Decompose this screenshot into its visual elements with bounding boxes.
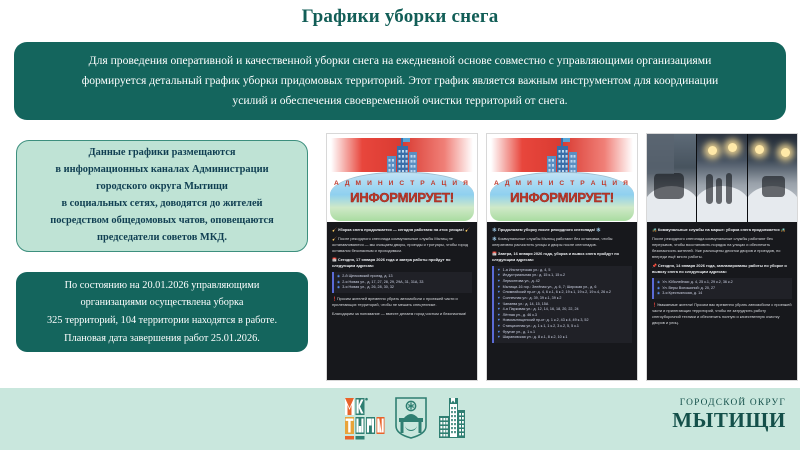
bullet-icon: ◉	[337, 285, 340, 291]
post-headline-1: 🧹 Уборка снега продолжается — сегодня ра…	[332, 227, 472, 233]
footer-wordmark: ГОРОДСКОЙ ОКРУГ МЫТИЩИ	[672, 398, 786, 431]
street-light-glow	[781, 148, 790, 157]
street-light-glow	[728, 143, 737, 152]
post-body-3: 🚜 Коммунальные службы на марше: уборка с…	[647, 222, 797, 333]
social-post-screenshot-3[interactable]: 🚜 Коммунальные службы на марше: уборка с…	[646, 133, 798, 381]
snow-pile	[697, 186, 746, 222]
mint-line-5: посредством общедомовых чатов, оповещают…	[50, 213, 274, 230]
footer-logos	[345, 396, 465, 440]
banner-main-text: ИНФОРМИРУЕТ!	[487, 190, 637, 205]
worker-silhouette	[706, 174, 712, 204]
post-schedule-head-1: 📅 Сегодня, 17 января 2026 года и завтра …	[332, 257, 472, 269]
intro-callout: Для проведения оперативной и качественно…	[14, 42, 786, 120]
banner-main-text: ИНФОРМИРУЕТ!	[327, 190, 477, 205]
post-warning-3: ❗️Уважаемые жители! Просим вас временно …	[652, 302, 792, 326]
page-title: Графики уборки снега	[0, 6, 800, 28]
post-text-1: 🧹 После рекордного снегопада коммунальны…	[332, 236, 472, 254]
status-line-4: Плановая дата завершения работ 25.01.202…	[47, 330, 277, 348]
photo-loader-and-snow-heap	[748, 134, 797, 222]
cleaning-status-text: По состоянию на 20.01.2026 управляющими …	[47, 277, 277, 348]
post-warning-1: ❗️Просим жителей временно убрать автомоб…	[332, 296, 472, 308]
post-schedule-head-2: 📅 Завтра, 16 января 2026 года, уборка и …	[492, 251, 632, 263]
intro-line-1: Для проведения оперативной и качественно…	[82, 51, 719, 71]
intro-text: Для проведения оперативной и качественно…	[82, 51, 719, 112]
post-body-2: ❄️ Продолжаем уборку после рекордного сн…	[487, 222, 637, 350]
intro-line-3: усилий и обеспечения своевременной очист…	[82, 91, 719, 111]
cleaning-status-box: По состоянию на 20.01.2026 управляющими …	[16, 272, 308, 352]
mint-line-1: Данные графики размещаются	[50, 145, 274, 162]
footer-subtitle: ГОРОДСКОЙ ОКРУГ	[672, 398, 786, 408]
address-list-1: ◉2-й Щелковский проезд, д. 13 ◉2-я Новая…	[332, 272, 472, 293]
address-list-3: ◉Ул. Юбилейная: д. 4, 25 к.1, 29 к.2, 36…	[652, 278, 792, 299]
address-item: ◉3-я Крестьянская, д. 14	[657, 291, 789, 297]
photo-tractor-clearing-snow	[647, 134, 696, 222]
building-silhouette	[647, 134, 674, 174]
status-line-2: организациями осуществлена уборка	[47, 294, 277, 312]
intro-line-2: формируется детальный график уборки прид…	[82, 71, 719, 91]
photo-workers-at-night	[697, 134, 746, 222]
bullet-icon: ▼	[497, 335, 501, 341]
address-text: 3-я Новая ул., д. 26, 28, 30, 32	[342, 285, 394, 291]
address-list-2: ▼1-я Институтская ул.: д. 4, 5 ▼Индустри…	[492, 266, 632, 343]
distribution-channels-box: Данные графики размещаются в информацион…	[16, 140, 308, 252]
status-line-3: 325 территорий, 104 территории находятся…	[47, 312, 277, 330]
street-light-glow	[755, 145, 764, 154]
social-post-screenshot-2[interactable]: А Д М И Н И С Т Р А Ц И Я ИНФОРМИРУЕТ! ❄…	[486, 133, 638, 381]
post-text-2: ❄️ Коммунальные службы Мытищ работают бе…	[492, 236, 632, 248]
address-item: ◉3-я Новая ул., д. 26, 28, 30, 32	[337, 285, 469, 291]
tractor-silhouette	[654, 173, 685, 199]
administration-informs-banner: А Д М И Н И С Т Р А Ц И Я ИНФОРМИРУЕТ!	[327, 134, 477, 222]
loader-silhouette	[762, 176, 785, 197]
banner-top-text: А Д М И Н И С Т Р А Ц И Я	[327, 180, 477, 187]
worker-silhouette	[726, 173, 732, 205]
mti-monogram-logo	[345, 396, 385, 440]
coat-of-arms-logo	[394, 396, 428, 440]
administration-informs-banner: А Д М И Н И С Т Р А Ц И Я ИНФОРМИРУЕТ!	[487, 134, 637, 222]
mint-line-2: в информационных каналах Администрации	[50, 162, 274, 179]
post-headline-3: 🚜 Коммунальные службы на марше: уборка с…	[652, 227, 792, 233]
poster-root: Графики уборки снега Для проведения опер…	[0, 0, 800, 450]
social-post-screenshot-1[interactable]: А Д М И Н И С Т Р А Ц И Я ИНФОРМИРУЕТ! 🧹…	[326, 133, 478, 381]
address-text: 3-я Крестьянская, д. 14	[662, 291, 702, 297]
status-line-1: По состоянию на 20.01.2026 управляющими	[47, 277, 277, 295]
footer-title: МЫТИЩИ	[672, 409, 786, 431]
post-tail-1: Благодарим за понимание — вместе делаем …	[332, 311, 472, 317]
bullet-icon: ◉	[657, 291, 660, 297]
footer-band: ГОРОДСКОЙ ОКРУГ МЫТИЩИ	[0, 388, 800, 450]
address-text: Шараповская ул.: д. 8 к.1, 8 к.2, 10 к.1	[503, 335, 568, 341]
city-buildings-logo	[437, 396, 465, 440]
banner-top-text: А Д М И Н И С Т Р А Ц И Я	[487, 180, 637, 187]
mint-line-6: председатели советов МКД.	[50, 230, 274, 247]
post-body-1: 🧹 Уборка снега продолжается — сегодня ра…	[327, 222, 477, 321]
distribution-channels-text: Данные графики размещаются в информацион…	[50, 145, 274, 246]
post-schedule-head-3: 📌 Сегодня, 14 января 2026 года, запланир…	[652, 263, 792, 275]
mint-line-4: в социальных сетях, доводятся до жителей	[50, 196, 274, 213]
street-light-glow	[708, 146, 717, 155]
post-text-3: После рекордного снегопада коммунальные …	[652, 236, 792, 260]
mint-line-3: городского округа Мытищи	[50, 179, 274, 196]
address-item: ▼Шараповская ул.: д. 8 к.1, 8 к.2, 10 к.…	[497, 335, 629, 341]
worker-silhouette	[716, 178, 722, 204]
snow-removal-photo-collage	[647, 134, 797, 222]
post-headline-2: ❄️ Продолжаем уборку после рекордного сн…	[492, 227, 632, 233]
